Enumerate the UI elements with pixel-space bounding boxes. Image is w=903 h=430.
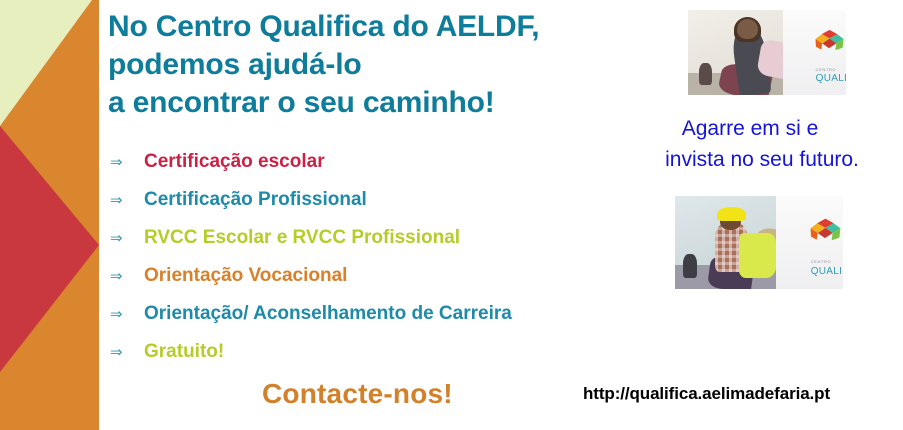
- double-arrow-icon: ⇒: [110, 155, 144, 170]
- poster-canvas: No Centro Qualifica do AELDF, podemos aj…: [0, 0, 903, 430]
- slogan-text: Agarre em si e invista no seu futuro.: [600, 113, 900, 175]
- double-arrow-icon: ⇒: [110, 307, 144, 322]
- contact-cta-text: Contacte-nos!: [262, 378, 453, 410]
- page-title: No Centro Qualifica do AELDF, podemos aj…: [108, 8, 668, 122]
- double-arrow-icon: ⇒: [110, 193, 144, 208]
- logo-caption: CENTRO: [811, 259, 832, 264]
- photo-person-head: [737, 19, 758, 39]
- photo-hard-hat: [717, 207, 746, 221]
- list-item: ⇒ Orientação/ Aconselhamento de Carreira: [110, 304, 670, 342]
- list-item: ⇒ Certificação escolar: [110, 152, 670, 190]
- slogan-line-2: invista no seu futuro.: [600, 144, 900, 175]
- left-decorative-art: [0, 0, 104, 430]
- services-list: ⇒ Certificação escolar ⇒ Certificação Pr…: [110, 152, 670, 380]
- photo-construction-worker: CENTRO QUALIF: [675, 196, 843, 289]
- double-arrow-icon: ⇒: [110, 345, 144, 360]
- photo-background-person: [683, 254, 696, 278]
- photo-woman-suitcase: CENTRO QUALIFI: [688, 10, 846, 95]
- photo-background-person: [699, 63, 712, 85]
- list-item: ⇒ Orientação Vocacional: [110, 266, 670, 304]
- centro-qualifica-logo: CENTRO QUALIF: [810, 213, 841, 278]
- service-label-certificacao-profissional: Certificação Profissional: [144, 190, 367, 209]
- slogan-line-1: Agarre em si e: [600, 113, 900, 144]
- double-arrow-icon: ⇒: [110, 269, 144, 284]
- photo-hi-vis-vest: [739, 233, 776, 278]
- logo-wordmark: QUALIFI: [816, 73, 846, 84]
- double-arrow-icon: ⇒: [110, 231, 144, 246]
- service-label-rvcc: RVCC Escolar e RVCC Profissional: [144, 228, 460, 247]
- service-label-certificacao-escolar: Certificação escolar: [144, 152, 325, 171]
- qualifica-pinwheel-icon: [815, 25, 844, 56]
- logo-caption: CENTRO: [816, 67, 837, 72]
- service-label-gratuito: Gratuito!: [144, 342, 224, 361]
- list-item: ⇒ Gratuito!: [110, 342, 670, 380]
- list-item: ⇒ RVCC Escolar e RVCC Profissional: [110, 228, 670, 266]
- qualifica-pinwheel-icon: [810, 213, 841, 247]
- photo-scene: CENTRO QUALIFI: [688, 10, 846, 95]
- service-label-aconselhamento-carreira: Orientação/ Aconselhamento de Carreira: [144, 304, 512, 323]
- photo-logo-panel: CENTRO QUALIF: [776, 196, 843, 289]
- website-url[interactable]: http://qualifica.aelimadefaria.pt: [583, 384, 830, 404]
- list-item: ⇒ Certificação Profissional: [110, 190, 670, 228]
- service-label-orientacao-vocacional: Orientação Vocacional: [144, 266, 347, 285]
- centro-qualifica-logo: CENTRO QUALIFI: [815, 25, 844, 85]
- photo-scene: CENTRO QUALIF: [675, 196, 843, 289]
- photo-logo-panel: CENTRO QUALIFI: [783, 10, 846, 95]
- logo-wordmark: QUALIF: [811, 266, 843, 277]
